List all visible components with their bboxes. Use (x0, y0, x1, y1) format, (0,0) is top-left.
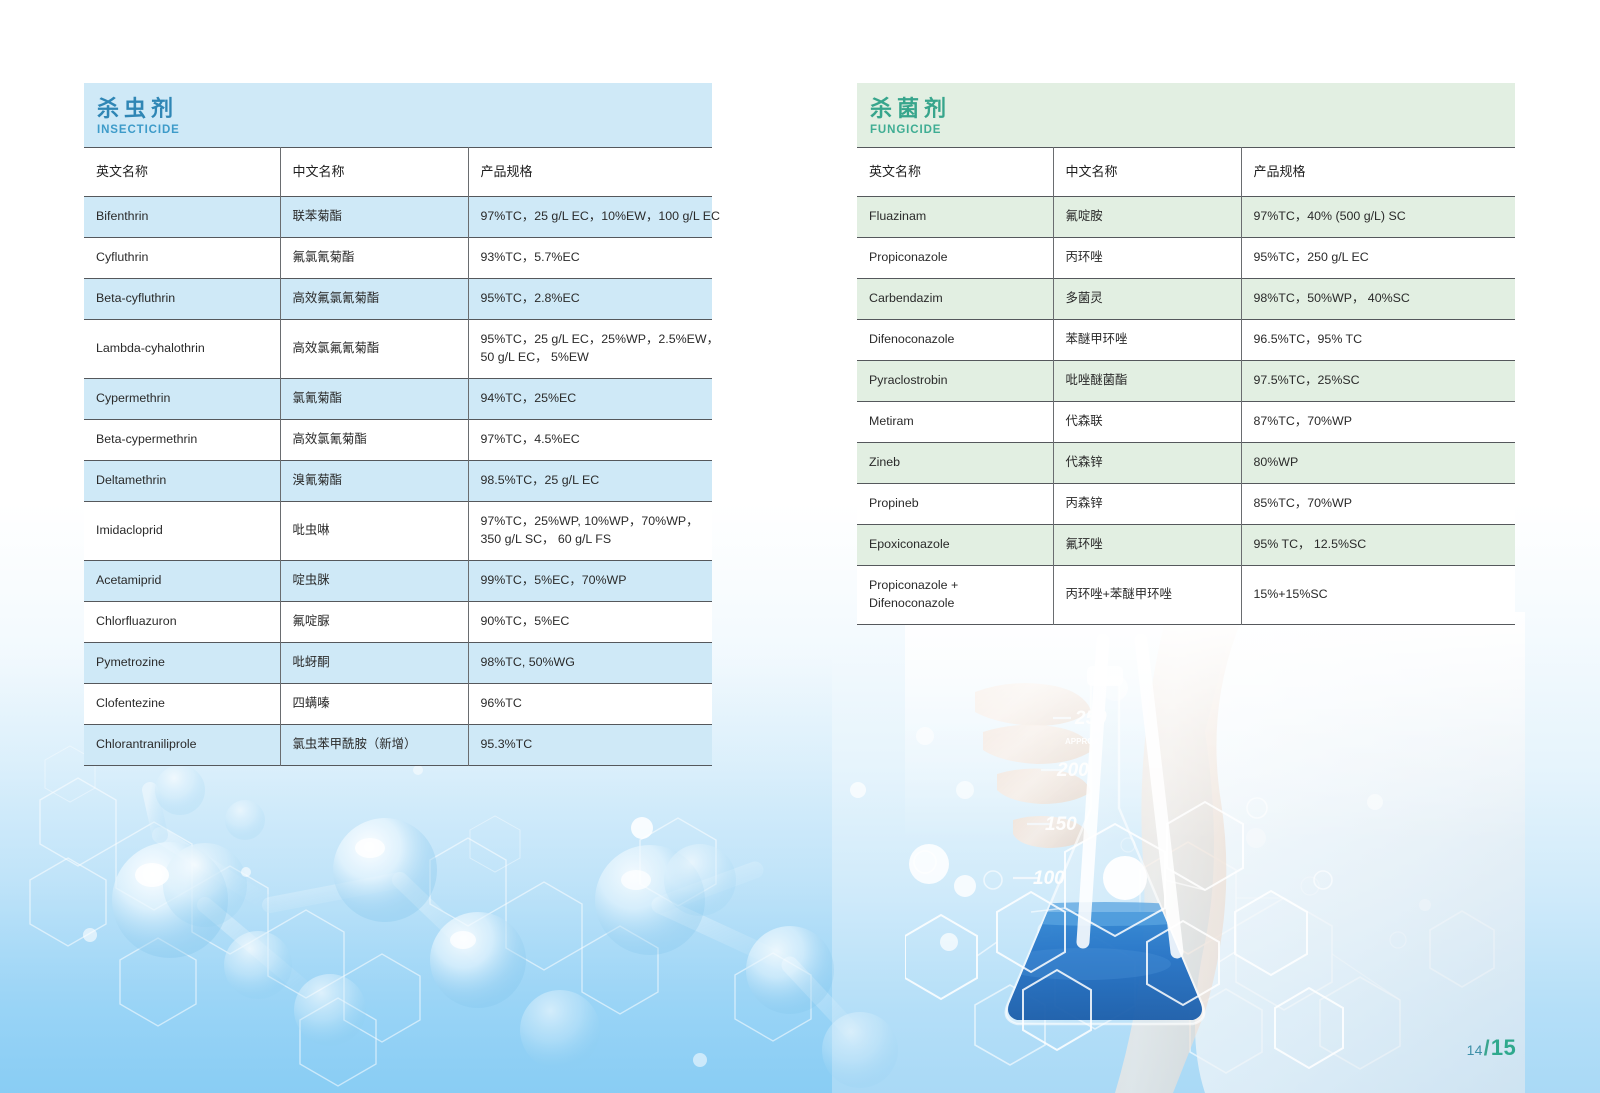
cell-english-name: Cypermethrin (84, 379, 280, 420)
spec-line: 94%TC，25%EC (481, 390, 703, 408)
cell-chinese-name: 氟啶胺 (1053, 197, 1241, 238)
cell-chinese-name: 啶虫脒 (280, 561, 468, 602)
table-row: Pyraclostrobin吡唑醚菌酯97.5%TC，25%SC (857, 361, 1515, 402)
cell-english-name: Deltamethrin (84, 461, 280, 502)
spec-line: 85%TC，70%WP (1254, 495, 1506, 513)
cell-chinese-name: 丙森锌 (1053, 484, 1241, 525)
cell-specification: 93%TC，5.7%EC (468, 238, 712, 279)
column-header-english-name: 英文名称 (84, 147, 280, 197)
cell-specification: 87%TC，70%WP (1241, 402, 1515, 443)
cell-specification: 98.5%TC，25 g/L EC (468, 461, 712, 502)
table-header-row: 英文名称 中文名称 产品规格 (84, 147, 712, 197)
table-row: Cypermethrin氯氰菊酯94%TC，25%EC (84, 379, 712, 420)
cell-specification: 97%TC，40% (500 g/L) SC (1241, 197, 1515, 238)
spec-line: 90%TC，5%EC (481, 613, 703, 631)
spec-line: 95%TC，25 g/L EC，25%WP，2.5%EW， (481, 331, 703, 349)
cell-chinese-name: 丙环唑+苯醚甲环唑 (1053, 566, 1241, 625)
column-header-specification: 产品规格 (468, 147, 712, 197)
spec-line: 93%TC，5.7%EC (481, 249, 703, 267)
cell-chinese-name: 联苯菊酯 (280, 197, 468, 238)
cell-specification: 94%TC，25%EC (468, 379, 712, 420)
cell-english-name: Propineb (857, 484, 1053, 525)
cell-chinese-name: 高效氯氟氰菊酯 (280, 320, 468, 379)
fungicide-header: 杀菌剂 FUNGICIDE (857, 83, 1515, 147)
spec-line: 97%TC，25 g/L EC，10%EW，100 g/L EC (481, 208, 703, 226)
column-header-english-name: 英文名称 (857, 147, 1053, 197)
spec-line: 98%TC，50%WP， 40%SC (1254, 290, 1506, 308)
table-row: Difenoconazole苯醚甲环唑96.5%TC，95% TC (857, 320, 1515, 361)
cell-specification: 80%WP (1241, 443, 1515, 484)
spec-line: 98.5%TC，25 g/L EC (481, 472, 703, 490)
spec-line: 50 g/L EC， 5%EW (481, 349, 703, 367)
cell-english-name: Chlorantraniliprole (84, 725, 280, 766)
insecticide-table-body: Bifenthrin联苯菊酯97%TC，25 g/L EC，10%EW，100 … (84, 197, 712, 766)
cell-english-name: Clofentezine (84, 684, 280, 725)
cell-english-name: Fluazinam (857, 197, 1053, 238)
fungicide-panel: 杀菌剂 FUNGICIDE 英文名称 中文名称 产品规格 Fluazinam氟啶… (857, 83, 1515, 625)
spec-line: 97.5%TC，25%SC (1254, 372, 1506, 390)
table-row: Cyfluthrin氟氯氰菊酯93%TC，5.7%EC (84, 238, 712, 279)
cell-english-name: Pyraclostrobin (857, 361, 1053, 402)
table-row: Propiconazole丙环唑95%TC，250 g/L EC (857, 238, 1515, 279)
column-header-chinese-name: 中文名称 (1053, 147, 1241, 197)
cell-english-name: Epoxiconazole (857, 525, 1053, 566)
spec-line: 95.3%TC (481, 736, 703, 754)
table-row: Pymetrozine吡蚜酮98%TC, 50%WG (84, 643, 712, 684)
cell-specification: 85%TC，70%WP (1241, 484, 1515, 525)
cell-chinese-name: 氯氰菊酯 (280, 379, 468, 420)
cell-chinese-name: 氟氯氰菊酯 (280, 238, 468, 279)
table-row: Acetamiprid啶虫脒99%TC，5%EC，70%WP (84, 561, 712, 602)
spec-line: 87%TC，70%WP (1254, 413, 1506, 431)
insecticide-title-en: INSECTICIDE (97, 125, 712, 137)
spec-line: 95%TC，2.8%EC (481, 290, 703, 308)
column-header-chinese-name: 中文名称 (280, 147, 468, 197)
cell-specification: 90%TC，5%EC (468, 602, 712, 643)
cell-english-name: Pymetrozine (84, 643, 280, 684)
spec-line: 80%WP (1254, 454, 1506, 472)
table-row: Lambda-cyhalothrin高效氯氟氰菊酯95%TC，25 g/L EC… (84, 320, 712, 379)
cell-english-name: Bifenthrin (84, 197, 280, 238)
cell-specification: 97%TC，4.5%EC (468, 420, 712, 461)
table-row: Epoxiconazole氟环唑95% TC， 12.5%SC (857, 525, 1515, 566)
fungicide-title-cn: 杀菌剂 (870, 98, 1515, 120)
insecticide-panel: 杀虫剂 INSECTICIDE 英文名称 中文名称 产品规格 Bifenthri… (84, 83, 712, 766)
cell-chinese-name: 丙环唑 (1053, 238, 1241, 279)
column-header-specification: 产品规格 (1241, 147, 1515, 197)
cell-chinese-name: 苯醚甲环唑 (1053, 320, 1241, 361)
cell-english-name: Lambda-cyhalothrin (84, 320, 280, 379)
table-row: Chlorantraniliprole氯虫苯甲酰胺（新增）95.3%TC (84, 725, 712, 766)
cell-chinese-name: 溴氰菊酯 (280, 461, 468, 502)
cell-specification: 95%TC，250 g/L EC (1241, 238, 1515, 279)
cell-specification: 98%TC，50%WP， 40%SC (1241, 279, 1515, 320)
table-row: Deltamethrin溴氰菊酯98.5%TC，25 g/L EC (84, 461, 712, 502)
cell-specification: 96.5%TC，95% TC (1241, 320, 1515, 361)
insecticide-title-cn: 杀虫剂 (97, 98, 712, 120)
fungicide-table-body: Fluazinam氟啶胺97%TC，40% (500 g/L) SCPropic… (857, 197, 1515, 625)
page-number-separator: / (1483, 1037, 1491, 1060)
table-row: Fluazinam氟啶胺97%TC，40% (500 g/L) SC (857, 197, 1515, 238)
cell-chinese-name: 氟啶脲 (280, 602, 468, 643)
cell-specification: 97%TC，25 g/L EC，10%EW，100 g/L EC (468, 197, 712, 238)
cell-specification: 95.3%TC (468, 725, 712, 766)
cell-english-name: Imidacloprid (84, 502, 280, 561)
page-number: 14/15 (1467, 1035, 1516, 1061)
table-row: Imidacloprid吡虫啉97%TC，25%WP, 10%WP，70%WP，… (84, 502, 712, 561)
table-row: Zineb代森锌80%WP (857, 443, 1515, 484)
spec-line: 99%TC，5%EC，70%WP (481, 572, 703, 590)
spec-line: 15%+15%SC (1254, 586, 1506, 604)
cell-english-name: Acetamiprid (84, 561, 280, 602)
cell-english-name: Beta-cypermethrin (84, 420, 280, 461)
cell-specification: 97%TC，25%WP, 10%WP，70%WP，350 g/L SC， 60 … (468, 502, 712, 561)
table-row: Bifenthrin联苯菊酯97%TC，25 g/L EC，10%EW，100 … (84, 197, 712, 238)
cell-specification: 97.5%TC，25%SC (1241, 361, 1515, 402)
cell-chinese-name: 氯虫苯甲酰胺（新增） (280, 725, 468, 766)
cell-chinese-name: 多菌灵 (1053, 279, 1241, 320)
fungicide-title-en: FUNGICIDE (870, 125, 1515, 137)
table-row: Chlorfluazuron氟啶脲90%TC，5%EC (84, 602, 712, 643)
spec-line: 350 g/L SC， 60 g/L FS (481, 531, 703, 549)
cell-chinese-name: 代森锌 (1053, 443, 1241, 484)
table-row: Beta-cypermethrin高效氯氰菊酯97%TC，4.5%EC (84, 420, 712, 461)
catalogue-page: 250 APPROX 200 150 100 (0, 0, 1600, 1093)
cell-chinese-name: 吡蚜酮 (280, 643, 468, 684)
cell-specification: 15%+15%SC (1241, 566, 1515, 625)
fungicide-table: 英文名称 中文名称 产品规格 Fluazinam氟啶胺97%TC，40% (50… (857, 147, 1515, 626)
cell-chinese-name: 高效氟氯氰菊酯 (280, 279, 468, 320)
page-number-current: 14 (1467, 1042, 1483, 1058)
table-row: Carbendazim多菌灵98%TC，50%WP， 40%SC (857, 279, 1515, 320)
table-header-row: 英文名称 中文名称 产品规格 (857, 147, 1515, 197)
table-row: Beta-cyfluthrin高效氟氯氰菊酯95%TC，2.8%EC (84, 279, 712, 320)
table-row: Propiconazole + Difenoconazole丙环唑+苯醚甲环唑1… (857, 566, 1515, 625)
cell-english-name: Zineb (857, 443, 1053, 484)
cell-english-name: Metiram (857, 402, 1053, 443)
cell-english-name: Propiconazole (857, 238, 1053, 279)
cell-chinese-name: 氟环唑 (1053, 525, 1241, 566)
cell-chinese-name: 四螨嗪 (280, 684, 468, 725)
cell-chinese-name: 吡唑醚菌酯 (1053, 361, 1241, 402)
insecticide-header: 杀虫剂 INSECTICIDE (84, 83, 712, 147)
cell-chinese-name: 吡虫啉 (280, 502, 468, 561)
page-number-total: 15 (1491, 1035, 1516, 1060)
spec-line: 95%TC，250 g/L EC (1254, 249, 1506, 267)
cell-english-name: Carbendazim (857, 279, 1053, 320)
cell-specification: 95%TC，25 g/L EC，25%WP，2.5%EW，50 g/L EC， … (468, 320, 712, 379)
cell-specification: 95%TC，2.8%EC (468, 279, 712, 320)
table-row: Metiram代森联87%TC，70%WP (857, 402, 1515, 443)
table-row: Clofentezine四螨嗪96%TC (84, 684, 712, 725)
cell-english-name: Cyfluthrin (84, 238, 280, 279)
cell-specification: 96%TC (468, 684, 712, 725)
cell-english-name: Propiconazole + Difenoconazole (857, 566, 1053, 625)
cell-specification: 99%TC，5%EC，70%WP (468, 561, 712, 602)
spec-line: 96%TC (481, 695, 703, 713)
cell-english-name: Chlorfluazuron (84, 602, 280, 643)
cell-specification: 98%TC, 50%WG (468, 643, 712, 684)
spec-line: 98%TC, 50%WG (481, 654, 703, 672)
cell-specification: 95% TC， 12.5%SC (1241, 525, 1515, 566)
spec-line: 97%TC，4.5%EC (481, 431, 703, 449)
spec-line: 97%TC，40% (500 g/L) SC (1254, 208, 1506, 226)
cell-english-name: Difenoconazole (857, 320, 1053, 361)
insecticide-table: 英文名称 中文名称 产品规格 Bifenthrin联苯菊酯97%TC，25 g/… (84, 147, 712, 767)
table-row: Propineb丙森锌85%TC，70%WP (857, 484, 1515, 525)
cell-english-name: Beta-cyfluthrin (84, 279, 280, 320)
cell-chinese-name: 高效氯氰菊酯 (280, 420, 468, 461)
spec-line: 96.5%TC，95% TC (1254, 331, 1506, 349)
spec-line: 97%TC，25%WP, 10%WP，70%WP， (481, 513, 703, 531)
cell-chinese-name: 代森联 (1053, 402, 1241, 443)
spec-line: 95% TC， 12.5%SC (1254, 536, 1506, 554)
